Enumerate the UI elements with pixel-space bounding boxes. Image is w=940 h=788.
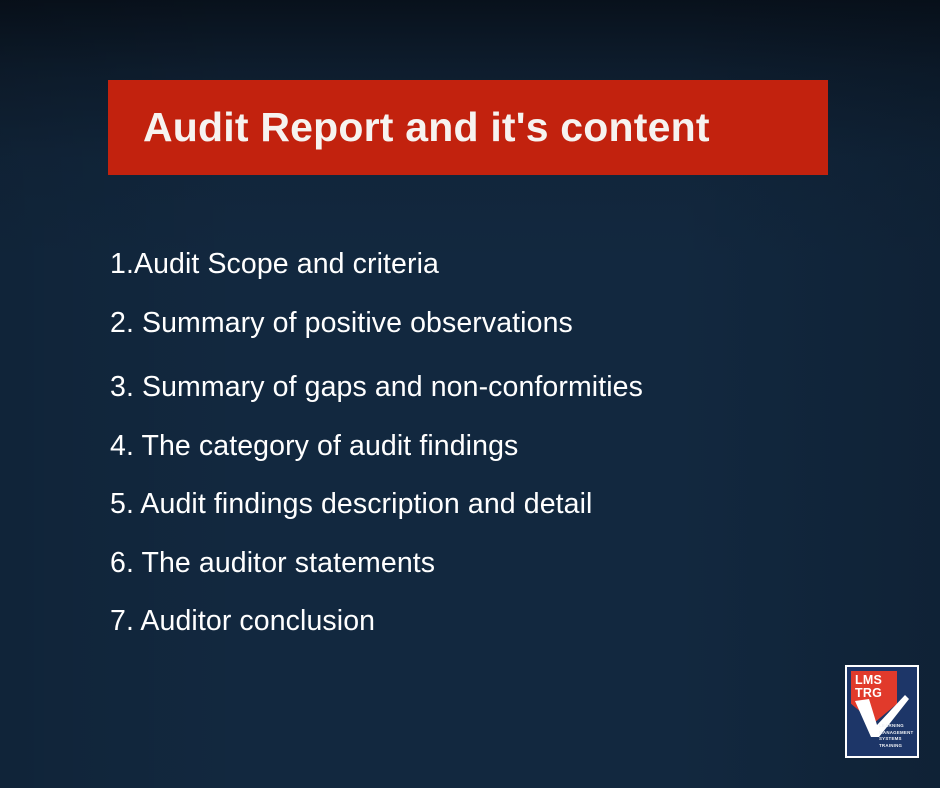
logo-tagline-line: LEARNING — [879, 723, 919, 730]
lms-trg-logo: LMS TRG LEARNING MANAGEMENT SYSTEMS TRAI… — [845, 665, 919, 758]
logo-inner: LMS TRG LEARNING MANAGEMENT SYSTEMS TRAI… — [847, 667, 917, 756]
slide-canvas: Audit Report and it's content 1.Audit Sc… — [0, 0, 940, 788]
logo-tagline-line: TRAINING — [879, 743, 919, 750]
list-item: 2. Summary of positive observations — [110, 309, 870, 338]
title-banner: Audit Report and it's content — [108, 80, 828, 175]
list-item: 5. Audit findings description and detail — [110, 490, 870, 519]
logo-tagline-line: SYSTEMS — [879, 736, 919, 743]
logo-tagline-line: MANAGEMENT — [879, 730, 919, 737]
content-list: 1.Audit Scope and criteria 2. Summary of… — [110, 250, 870, 636]
list-item: 1.Audit Scope and criteria — [110, 250, 870, 279]
list-item: 3. Summary of gaps and non-conformities — [110, 373, 870, 402]
list-item: 6. The auditor statements — [110, 549, 870, 578]
page-title: Audit Report and it's content — [108, 106, 710, 149]
list-item: 4. The category of audit findings — [110, 432, 870, 461]
logo-tagline: LEARNING MANAGEMENT SYSTEMS TRAINING — [879, 723, 919, 750]
list-item: 7. Auditor conclusion — [110, 607, 870, 636]
